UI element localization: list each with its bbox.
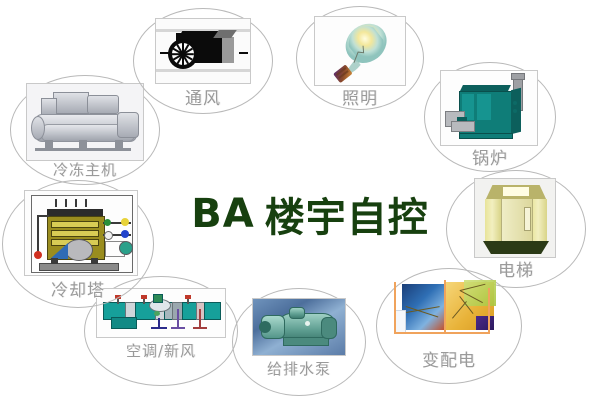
node-ventilation[interactable]: 通风 [133, 8, 273, 114]
elevator-icon [474, 178, 556, 258]
title-text: 楼宇自控 [265, 185, 429, 243]
title-prefix: BA [191, 191, 254, 237]
fan-unit-icon [155, 18, 251, 84]
node-label: 通风 [133, 84, 273, 109]
node-boiler[interactable]: 锅炉 [424, 62, 556, 172]
boiler-icon [440, 70, 538, 146]
page-title: BA楼宇自控 [160, 186, 460, 242]
node-label: 给排水泵 [232, 358, 366, 379]
node-label: 锅炉 [424, 144, 556, 169]
substation-icon [392, 278, 504, 344]
light-bulb-icon [314, 16, 406, 86]
node-label: 冷却塔 [2, 276, 154, 301]
chiller-icon [26, 83, 144, 161]
node-lighting[interactable]: 照明 [296, 6, 424, 110]
node-substation[interactable]: 变配电 [376, 268, 522, 384]
node-label: 变配电 [376, 346, 522, 371]
cooling-tower-icon [24, 190, 138, 276]
node-label: 空调/新风 [84, 340, 238, 361]
node-label: 冷冻主机 [10, 159, 160, 180]
node-label: 照明 [296, 84, 424, 109]
node-coolingtower[interactable]: 冷却塔 [2, 180, 154, 308]
node-pump[interactable]: 给排水泵 [232, 288, 366, 396]
ba-system-diagram: 冷冻主机 [0, 0, 600, 400]
water-pump-icon [252, 298, 346, 356]
